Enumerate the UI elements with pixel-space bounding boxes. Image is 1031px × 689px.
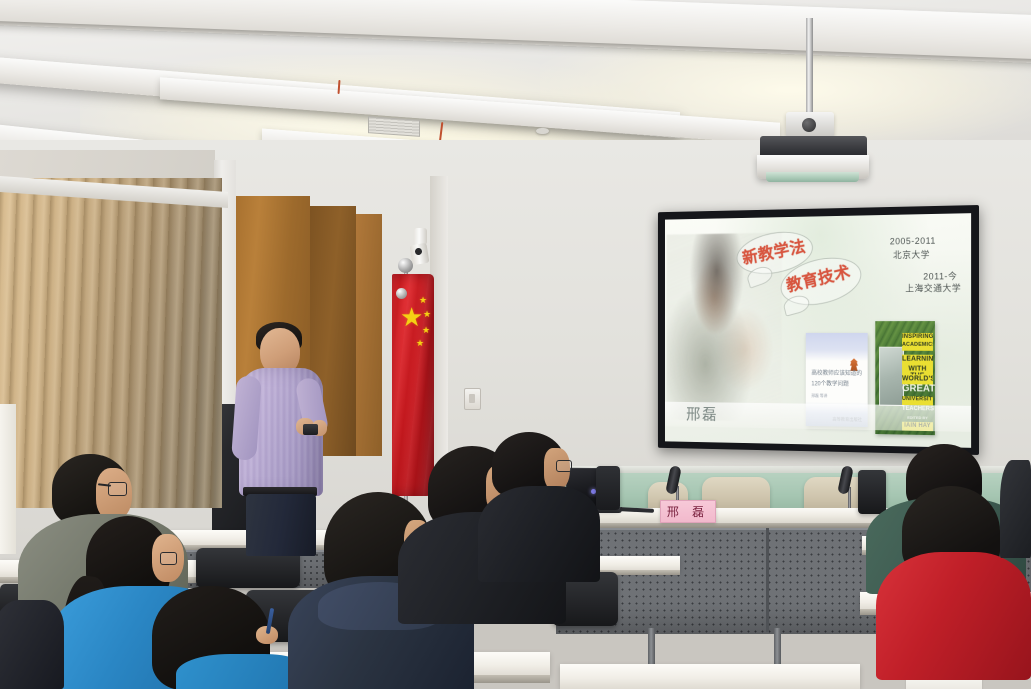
podium-panel-seam (766, 528, 769, 632)
flag-star-small-1: ★ (419, 296, 427, 305)
slide-book-en-line-5: UNIVERSITY (902, 396, 933, 405)
slide-book-cn-title-2: 120个教学问题 (811, 380, 863, 389)
smoke-detector (536, 128, 549, 134)
book-cover-window-icon (879, 347, 904, 406)
audience-glasses-6 (556, 460, 572, 472)
slide-book-en-band-1: INSPIRING (902, 333, 933, 342)
flag-star-small-3: ★ (422, 326, 430, 335)
window-light-gap (0, 404, 16, 554)
slide-affiliation-2-name: 上海交通大学 (905, 281, 961, 294)
audience-chair-4[interactable] (596, 466, 620, 510)
projector-bracket (786, 112, 834, 138)
student-desk-front-right (560, 664, 860, 689)
wood-wall-panel-narrow (356, 214, 382, 456)
slide-book-en-line-4: GREAT (902, 384, 933, 394)
projector-mount-rod (806, 18, 813, 118)
slide-book-cn-byline: 邢磊 等译 (811, 393, 863, 399)
slide-affiliation-1-name: 北京大学 (893, 248, 930, 261)
air-vent (368, 116, 420, 137)
flag-star-large: ★ (400, 304, 423, 330)
audience-body-9 (1000, 460, 1031, 558)
projector-lens-icon (766, 172, 859, 182)
presenter-trousers (246, 494, 316, 556)
audience-body-6 (478, 486, 600, 582)
audience-body-10 (0, 600, 64, 689)
flag-pole-finial (398, 258, 413, 273)
flag-bracket (396, 288, 407, 299)
slide-book-en-line-1: LEARNING (902, 355, 933, 365)
projection-screen: 新教学法 教育技术 2005-2011 北京大学 2011-今 上海交通大学 高… (658, 205, 979, 455)
slide-affiliation-1-years: 2005-2011 (890, 236, 936, 247)
podium-name-card: 邢 磊 (660, 500, 716, 523)
projection-screen-surface: 新教学法 教育技术 2005-2011 北京大学 2011-今 上海交通大学 高… (665, 213, 971, 448)
presentation-clicker[interactable] (303, 424, 318, 435)
slide-book-en-line-2: WITH THE (902, 365, 933, 375)
flag-star-small-4: ★ (416, 339, 424, 348)
audience-body-8 (876, 552, 1031, 680)
light-switch[interactable] (464, 388, 481, 410)
chinese-flag: ★ ★ ★ ★ ★ (392, 274, 434, 496)
slide-presenter-name: 邢磊 (686, 401, 718, 424)
audience-chair-5[interactable] (858, 470, 886, 514)
lecture-hall-photo: ★ ★ ★ ★ ★ 新教学法 教育技术 2005-2011 北京大学 (0, 0, 1031, 689)
audience-glasses-2 (160, 552, 177, 565)
flag-star-small-2: ★ (423, 310, 431, 319)
slide-book-cn-title-1: 高校教师应该知道的 (811, 370, 863, 379)
slide-book-en-band-2: ACADEMICS (902, 342, 933, 351)
